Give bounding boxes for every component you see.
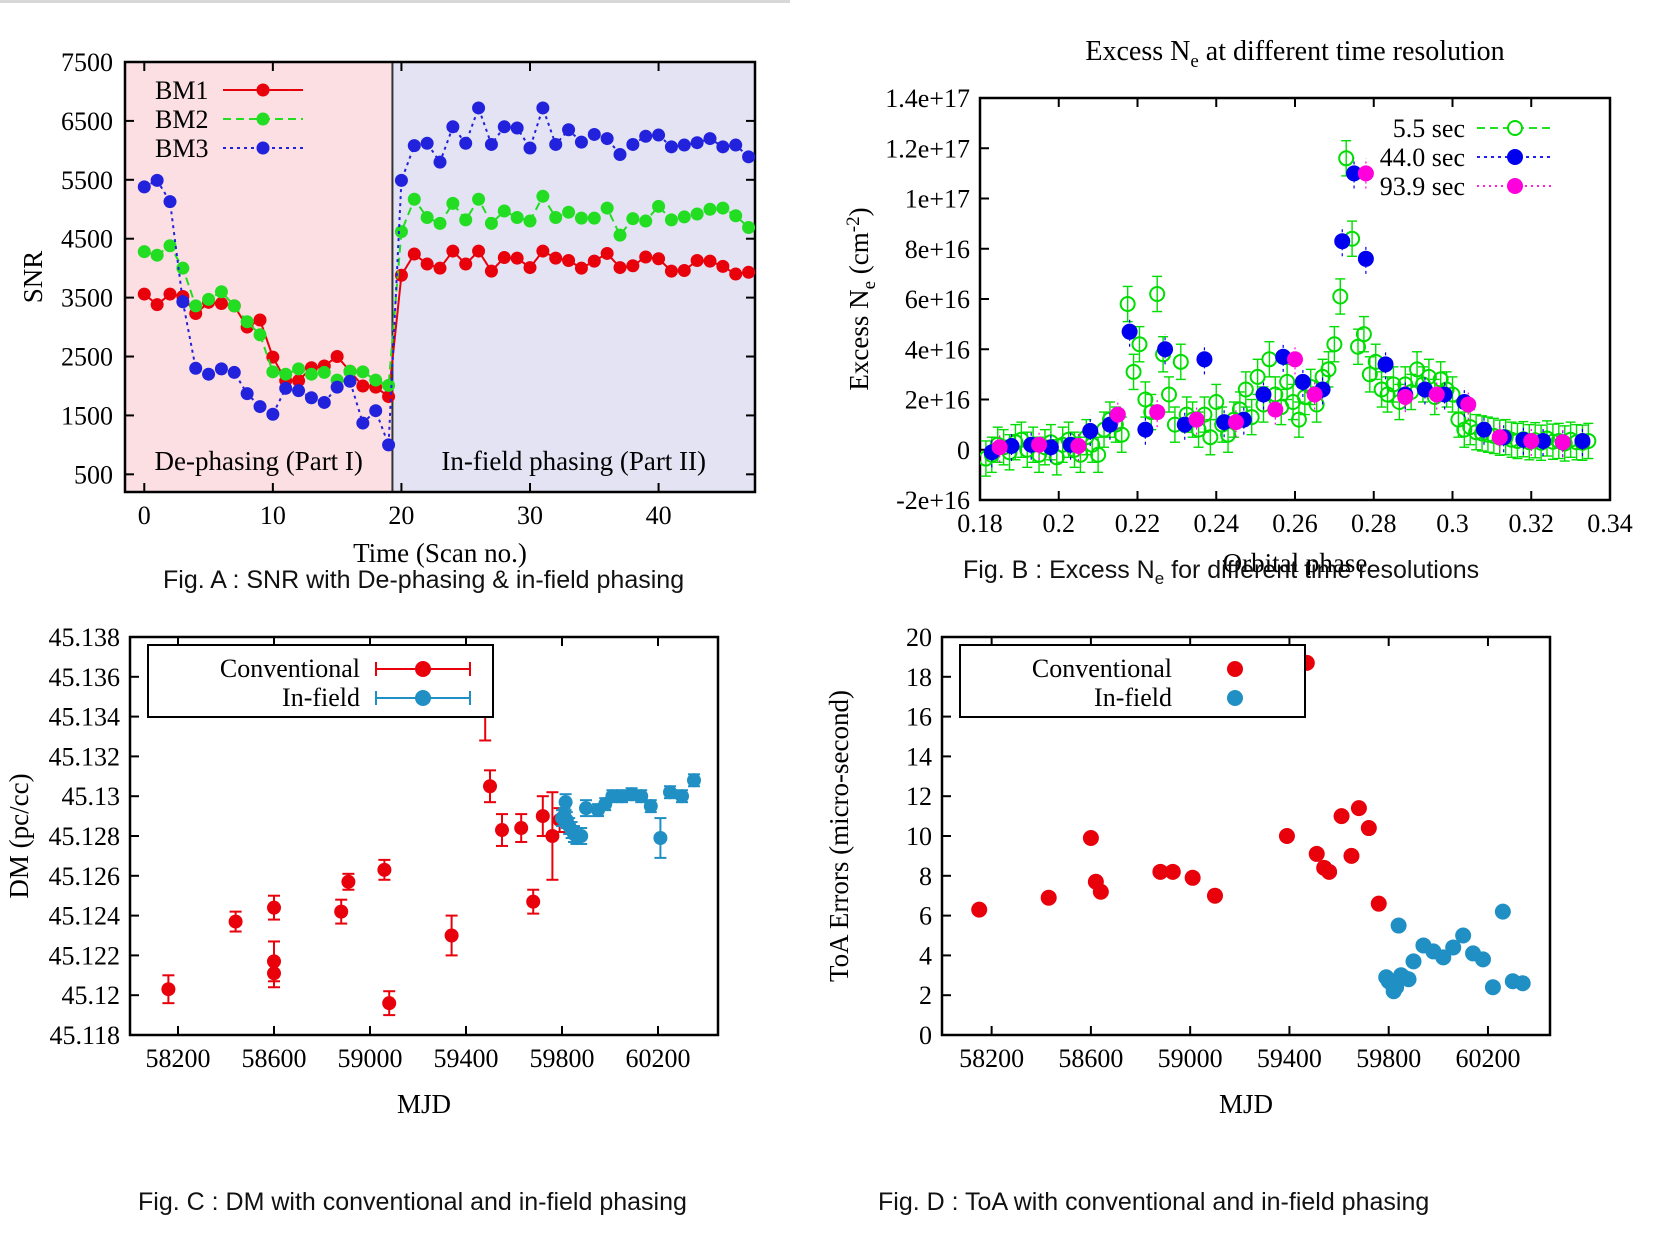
- x-tick-label: 0.28: [1351, 509, 1397, 538]
- data-point: [1321, 864, 1337, 880]
- figure-d-caption: Fig. D : ToA with conventional and in-fi…: [878, 1188, 1429, 1217]
- data-point: [729, 268, 742, 281]
- data-point: [678, 264, 691, 277]
- data-point: [1523, 433, 1539, 449]
- data-point: [626, 212, 639, 225]
- data-point: [266, 408, 279, 421]
- y-axis-label: ToA Errors (micro-second): [824, 690, 854, 982]
- figure-b-caption-sub: e: [1155, 569, 1164, 588]
- y-tick-label: 2500: [61, 343, 113, 372]
- data-point: [189, 299, 202, 312]
- data-point: [1391, 918, 1407, 934]
- data-point: [228, 299, 241, 312]
- data-point: [742, 150, 755, 163]
- data-point: [176, 295, 189, 308]
- legend-label-bm2: BM2: [155, 105, 208, 134]
- data-point: [254, 328, 267, 341]
- region-label-part2: In-field phasing (Part II): [441, 446, 706, 476]
- data-point: [536, 809, 550, 823]
- data-point: [279, 382, 292, 395]
- y-tick-label: 6500: [61, 107, 113, 136]
- data-point: [1574, 433, 1590, 449]
- data-point: [254, 400, 267, 413]
- data-point: [691, 254, 704, 267]
- data-point: [151, 174, 164, 187]
- data-point: [511, 211, 524, 224]
- data-point: [459, 258, 472, 271]
- data-point: [691, 207, 704, 220]
- data-point: [1228, 414, 1244, 430]
- data-point: [1485, 979, 1501, 995]
- data-point: [228, 366, 241, 379]
- y-tick-label: 45.13: [62, 782, 121, 811]
- data-point: [716, 260, 729, 273]
- legend-label: 93.9 sec: [1380, 172, 1465, 201]
- data-point: [1495, 904, 1511, 920]
- legend-marker: [1507, 178, 1523, 194]
- data-point: [559, 795, 573, 809]
- x-tick-label: 58200: [959, 1044, 1024, 1073]
- data-point: [485, 217, 498, 230]
- x-tick-label: 58600: [1058, 1044, 1123, 1073]
- y-tick-label: 1e+17: [905, 185, 970, 214]
- y-tick-label: 45.138: [49, 623, 121, 652]
- data-point: [614, 261, 627, 274]
- data-point: [331, 350, 344, 363]
- x-tick-label: 60200: [1455, 1044, 1520, 1073]
- legend-label: 5.5 sec: [1393, 114, 1465, 143]
- data-point: [1189, 412, 1205, 428]
- y-tick-label: 4: [919, 941, 932, 970]
- data-point: [716, 140, 729, 153]
- y-tick-label: 7500: [61, 48, 113, 77]
- data-point: [1185, 870, 1201, 886]
- data-point: [1455, 928, 1471, 944]
- data-point: [1122, 324, 1138, 340]
- data-point: [1083, 830, 1099, 846]
- data-point: [498, 205, 511, 218]
- data-point: [601, 132, 614, 145]
- data-point: [377, 863, 391, 877]
- y-tick-label: 45.134: [49, 703, 121, 732]
- data-point: [1343, 848, 1359, 864]
- data-point: [1295, 374, 1311, 390]
- data-point: [644, 799, 658, 813]
- data-point: [305, 391, 318, 404]
- data-point: [229, 915, 243, 929]
- data-point: [382, 996, 396, 1010]
- data-point: [498, 120, 511, 133]
- data-point: [1070, 438, 1086, 454]
- x-tick-label: 58200: [146, 1044, 211, 1073]
- figure-d-panel: 0246810121416182058200586005900059400598…: [820, 615, 1640, 1115]
- data-point: [626, 259, 639, 272]
- data-point: [305, 368, 318, 381]
- y-tick-label: 45.122: [49, 941, 121, 970]
- data-point: [356, 417, 369, 430]
- data-point: [459, 213, 472, 226]
- y-tick-label: 45.136: [49, 663, 121, 692]
- legend-marker: [257, 113, 270, 126]
- data-point: [1307, 386, 1323, 402]
- data-point: [526, 895, 540, 909]
- data-point: [639, 215, 652, 228]
- data-point: [356, 365, 369, 378]
- data-point: [524, 142, 537, 155]
- data-point: [1361, 820, 1377, 836]
- data-point: [1165, 864, 1181, 880]
- data-point: [1137, 422, 1153, 438]
- data-point: [601, 202, 614, 215]
- data-point: [1429, 386, 1445, 402]
- data-point: [395, 225, 408, 238]
- y-tick-label: 6e+16: [905, 285, 970, 314]
- y-tick-label: 4500: [61, 225, 113, 254]
- data-point: [292, 362, 305, 375]
- y-tick-label: 45.12: [62, 981, 121, 1010]
- data-point: [331, 381, 344, 394]
- legend-label: 44.0 sec: [1380, 143, 1465, 172]
- y-tick-label: 45.126: [49, 862, 121, 891]
- data-point: [459, 137, 472, 150]
- y-tick-label: 45.118: [49, 1021, 120, 1050]
- data-point: [266, 365, 279, 378]
- x-axis-label: MJD: [397, 1089, 451, 1115]
- page-top-divider: [0, 0, 790, 3]
- data-point: [614, 148, 627, 161]
- y-tick-label: 8: [919, 862, 932, 891]
- data-point: [292, 384, 305, 397]
- data-point: [408, 193, 421, 206]
- data-point: [215, 297, 228, 310]
- data-point: [485, 138, 498, 151]
- data-point: [382, 438, 395, 451]
- data-point: [1401, 971, 1417, 987]
- data-point: [1351, 800, 1367, 816]
- x-tick-label: 10: [260, 501, 286, 530]
- legend-marker: [257, 142, 270, 155]
- data-point: [536, 245, 549, 258]
- data-point: [1041, 890, 1057, 906]
- data-point: [138, 245, 151, 258]
- legend-label-bm1: BM1: [155, 76, 208, 105]
- data-point: [652, 200, 665, 213]
- data-point: [511, 121, 524, 134]
- legend-marker: [1227, 661, 1243, 677]
- y-tick-label: 1.4e+17: [885, 84, 970, 113]
- region-label-part1: De-phasing (Part I): [154, 446, 362, 476]
- data-point: [742, 266, 755, 279]
- data-point: [1406, 953, 1422, 969]
- y-tick-label: 18: [906, 663, 932, 692]
- y-tick-label: 16: [906, 703, 932, 732]
- data-point: [588, 212, 601, 225]
- data-point: [652, 252, 665, 265]
- y-tick-label: 45.128: [49, 822, 121, 851]
- data-point: [485, 265, 498, 278]
- data-point: [524, 215, 537, 228]
- data-point: [678, 139, 691, 152]
- data-point: [1358, 251, 1374, 267]
- y-tick-label: 8e+16: [905, 235, 970, 264]
- data-point: [1371, 896, 1387, 912]
- data-point: [1031, 437, 1047, 453]
- data-point: [138, 180, 151, 193]
- data-point: [472, 101, 485, 114]
- x-tick-label: 0.2: [1043, 509, 1076, 538]
- legend-marker: [415, 690, 431, 706]
- figure-b-caption: Fig. B : Excess Ne for different time re…: [963, 556, 1479, 589]
- data-point: [421, 258, 434, 271]
- y-tick-label: 14: [906, 742, 932, 771]
- y-axis-label: DM (pc/cc): [4, 773, 34, 898]
- y-tick-label: 5500: [61, 166, 113, 195]
- y-tick-label: 6: [919, 902, 932, 931]
- data-point: [549, 211, 562, 224]
- y-tick-label: 4e+16: [905, 335, 970, 364]
- figure-a-panel: 5001500250035004500550065007500010203040…: [0, 30, 790, 575]
- x-tick-label: 59400: [1257, 1044, 1322, 1073]
- data-point: [511, 252, 524, 265]
- data-point: [318, 396, 331, 409]
- data-point: [562, 206, 575, 219]
- data-point: [549, 138, 562, 151]
- figure-a-plot: 5001500250035004500550065007500010203040…: [0, 30, 790, 575]
- x-tick-label: 60200: [626, 1044, 691, 1073]
- data-point: [151, 298, 164, 311]
- data-point: [971, 902, 987, 918]
- data-point: [202, 293, 215, 306]
- figure-d-plot: 0246810121416182058200586005900059400598…: [820, 615, 1640, 1115]
- data-point: [434, 156, 447, 169]
- data-point: [1267, 402, 1283, 418]
- data-point: [279, 368, 292, 381]
- legend-label: In-field: [282, 683, 360, 712]
- data-point: [665, 265, 678, 278]
- data-point: [639, 130, 652, 143]
- data-point: [1196, 351, 1212, 367]
- data-point: [687, 773, 701, 787]
- data-point: [575, 136, 588, 149]
- y-tick-label: 45.132: [49, 742, 121, 771]
- data-point: [675, 789, 689, 803]
- data-point: [1515, 975, 1531, 991]
- data-point: [421, 211, 434, 224]
- data-point: [151, 249, 164, 262]
- data-point: [408, 248, 421, 261]
- data-point: [1378, 356, 1394, 372]
- figure-c-caption: Fig. C : DM with conventional and in-fie…: [138, 1188, 687, 1217]
- data-point: [614, 229, 627, 242]
- data-point: [639, 250, 652, 263]
- data-point: [1358, 165, 1374, 181]
- data-point: [189, 362, 202, 375]
- figure-b-caption-rest: for different time resolutions: [1164, 556, 1479, 584]
- x-tick-label: 59400: [434, 1044, 499, 1073]
- data-point: [164, 195, 177, 208]
- x-tick-label: 59000: [1158, 1044, 1223, 1073]
- y-tick-label: 2e+16: [905, 386, 970, 415]
- data-point: [267, 901, 281, 915]
- data-point: [663, 785, 677, 799]
- data-point: [1256, 386, 1272, 402]
- data-point: [369, 404, 382, 417]
- figure-b-panel: Excess Ne at different time resolution-2…: [820, 30, 1640, 575]
- data-point: [334, 905, 348, 919]
- data-point: [653, 831, 667, 845]
- figure-page: 5001500250035004500550065007500010203040…: [0, 0, 1653, 1240]
- data-point: [1110, 407, 1126, 423]
- data-point: [483, 779, 497, 793]
- data-point: [704, 255, 717, 268]
- y-tick-label: 1.2e+17: [885, 134, 970, 163]
- data-point: [665, 213, 678, 226]
- x-tick-label: 0.34: [1587, 509, 1633, 538]
- y-tick-label: 0: [919, 1021, 932, 1050]
- data-point: [1207, 888, 1223, 904]
- data-point: [562, 123, 575, 136]
- y-tick-label: 10: [906, 822, 932, 851]
- data-point: [254, 314, 267, 327]
- data-point: [1397, 389, 1413, 405]
- data-point: [446, 245, 459, 258]
- legend-label: Conventional: [220, 654, 360, 683]
- data-point: [241, 387, 254, 400]
- x-tick-label: 59800: [1356, 1044, 1421, 1073]
- data-point: [716, 202, 729, 215]
- data-point: [445, 929, 459, 943]
- data-point: [1093, 884, 1109, 900]
- x-tick-label: 0.32: [1509, 509, 1555, 538]
- data-point: [498, 251, 511, 264]
- y-tick-label: 20: [906, 623, 932, 652]
- data-point: [215, 362, 228, 375]
- data-point: [524, 261, 537, 274]
- x-tick-label: 20: [388, 501, 414, 530]
- data-point: [665, 140, 678, 153]
- data-point: [344, 375, 357, 388]
- legend-marker: [1508, 121, 1522, 135]
- data-point: [575, 262, 588, 275]
- data-point: [318, 366, 331, 379]
- data-point: [356, 379, 369, 392]
- data-point: [1149, 404, 1165, 420]
- data-point: [1279, 828, 1295, 844]
- data-point: [472, 193, 485, 206]
- x-tick-label: 59000: [338, 1044, 403, 1073]
- data-point: [992, 439, 1008, 455]
- data-point: [421, 137, 434, 150]
- data-point: [1334, 808, 1350, 824]
- data-point: [704, 203, 717, 216]
- data-point: [575, 212, 588, 225]
- data-point: [215, 285, 228, 298]
- data-point: [1555, 434, 1571, 450]
- data-point: [267, 966, 281, 980]
- data-point: [495, 823, 509, 837]
- data-point: [1082, 423, 1098, 439]
- legend-marker: [415, 661, 431, 677]
- data-point: [161, 982, 175, 996]
- data-point: [588, 128, 601, 141]
- y-axis-label: Excess Ne (cm-2): [843, 207, 880, 390]
- x-tick-label: 40: [646, 501, 672, 530]
- data-point: [691, 136, 704, 149]
- data-point: [1476, 422, 1492, 438]
- figure-b-title: Excess Ne at different time resolution: [1085, 36, 1504, 72]
- data-point: [1475, 951, 1491, 967]
- x-tick-label: 0.22: [1115, 509, 1161, 538]
- data-point: [742, 221, 755, 234]
- data-point: [408, 139, 421, 152]
- legend-label-bm3: BM3: [155, 134, 208, 163]
- data-point: [241, 315, 254, 328]
- data-point: [369, 374, 382, 387]
- y-tick-label: 500: [74, 460, 113, 489]
- data-point: [536, 101, 549, 114]
- figure-a-caption: Fig. A : SNR with De-phasing & in-field …: [163, 566, 684, 595]
- legend-marker: [1227, 690, 1243, 706]
- data-point: [678, 210, 691, 223]
- x-tick-label: 0.26: [1272, 509, 1318, 538]
- data-point: [574, 829, 588, 843]
- y-tick-label: 2: [919, 981, 932, 1010]
- y-tick-label: 3500: [61, 284, 113, 313]
- data-point: [1287, 351, 1303, 367]
- x-tick-label: 30: [517, 501, 543, 530]
- data-point: [729, 139, 742, 152]
- y-tick-label: 1500: [61, 401, 113, 430]
- data-point: [1157, 341, 1173, 357]
- data-point: [626, 138, 639, 151]
- x-tick-label: 0.3: [1436, 509, 1469, 538]
- data-point: [1460, 397, 1476, 413]
- data-point: [562, 254, 575, 267]
- legend-marker: [1507, 149, 1523, 165]
- data-point: [472, 245, 485, 258]
- data-point: [446, 120, 459, 133]
- data-point: [652, 129, 665, 142]
- figure-c-panel: 45.11845.1245.12245.12445.12645.12845.13…: [0, 615, 790, 1115]
- x-tick-label: 0.24: [1194, 509, 1240, 538]
- data-point: [579, 801, 593, 815]
- data-point: [202, 368, 215, 381]
- data-point: [729, 209, 742, 222]
- data-point: [382, 379, 395, 392]
- figure-b-plot: Excess Ne at different time resolution-2…: [820, 30, 1640, 575]
- data-point: [601, 247, 614, 260]
- x-axis-label: MJD: [1219, 1089, 1273, 1115]
- data-point: [395, 174, 408, 187]
- figure-c-plot: 45.11845.1245.12245.12445.12645.12845.13…: [0, 615, 790, 1115]
- legend-label: Conventional: [1032, 654, 1172, 683]
- y-tick-label: 0: [957, 436, 970, 465]
- data-point: [382, 390, 395, 403]
- y-axis-label: SNR: [18, 251, 48, 304]
- data-point: [434, 217, 447, 230]
- data-point: [1492, 429, 1508, 445]
- legend-marker: [257, 84, 270, 97]
- data-point: [164, 288, 177, 301]
- figure-b-caption-main: Fig. B : Excess N: [963, 556, 1155, 584]
- x-tick-label: 0.18: [957, 509, 1003, 538]
- data-point: [446, 197, 459, 210]
- data-point: [536, 190, 549, 203]
- x-tick-label: 0: [138, 501, 151, 530]
- data-point: [341, 875, 355, 889]
- data-point: [704, 132, 717, 145]
- data-point: [434, 262, 447, 275]
